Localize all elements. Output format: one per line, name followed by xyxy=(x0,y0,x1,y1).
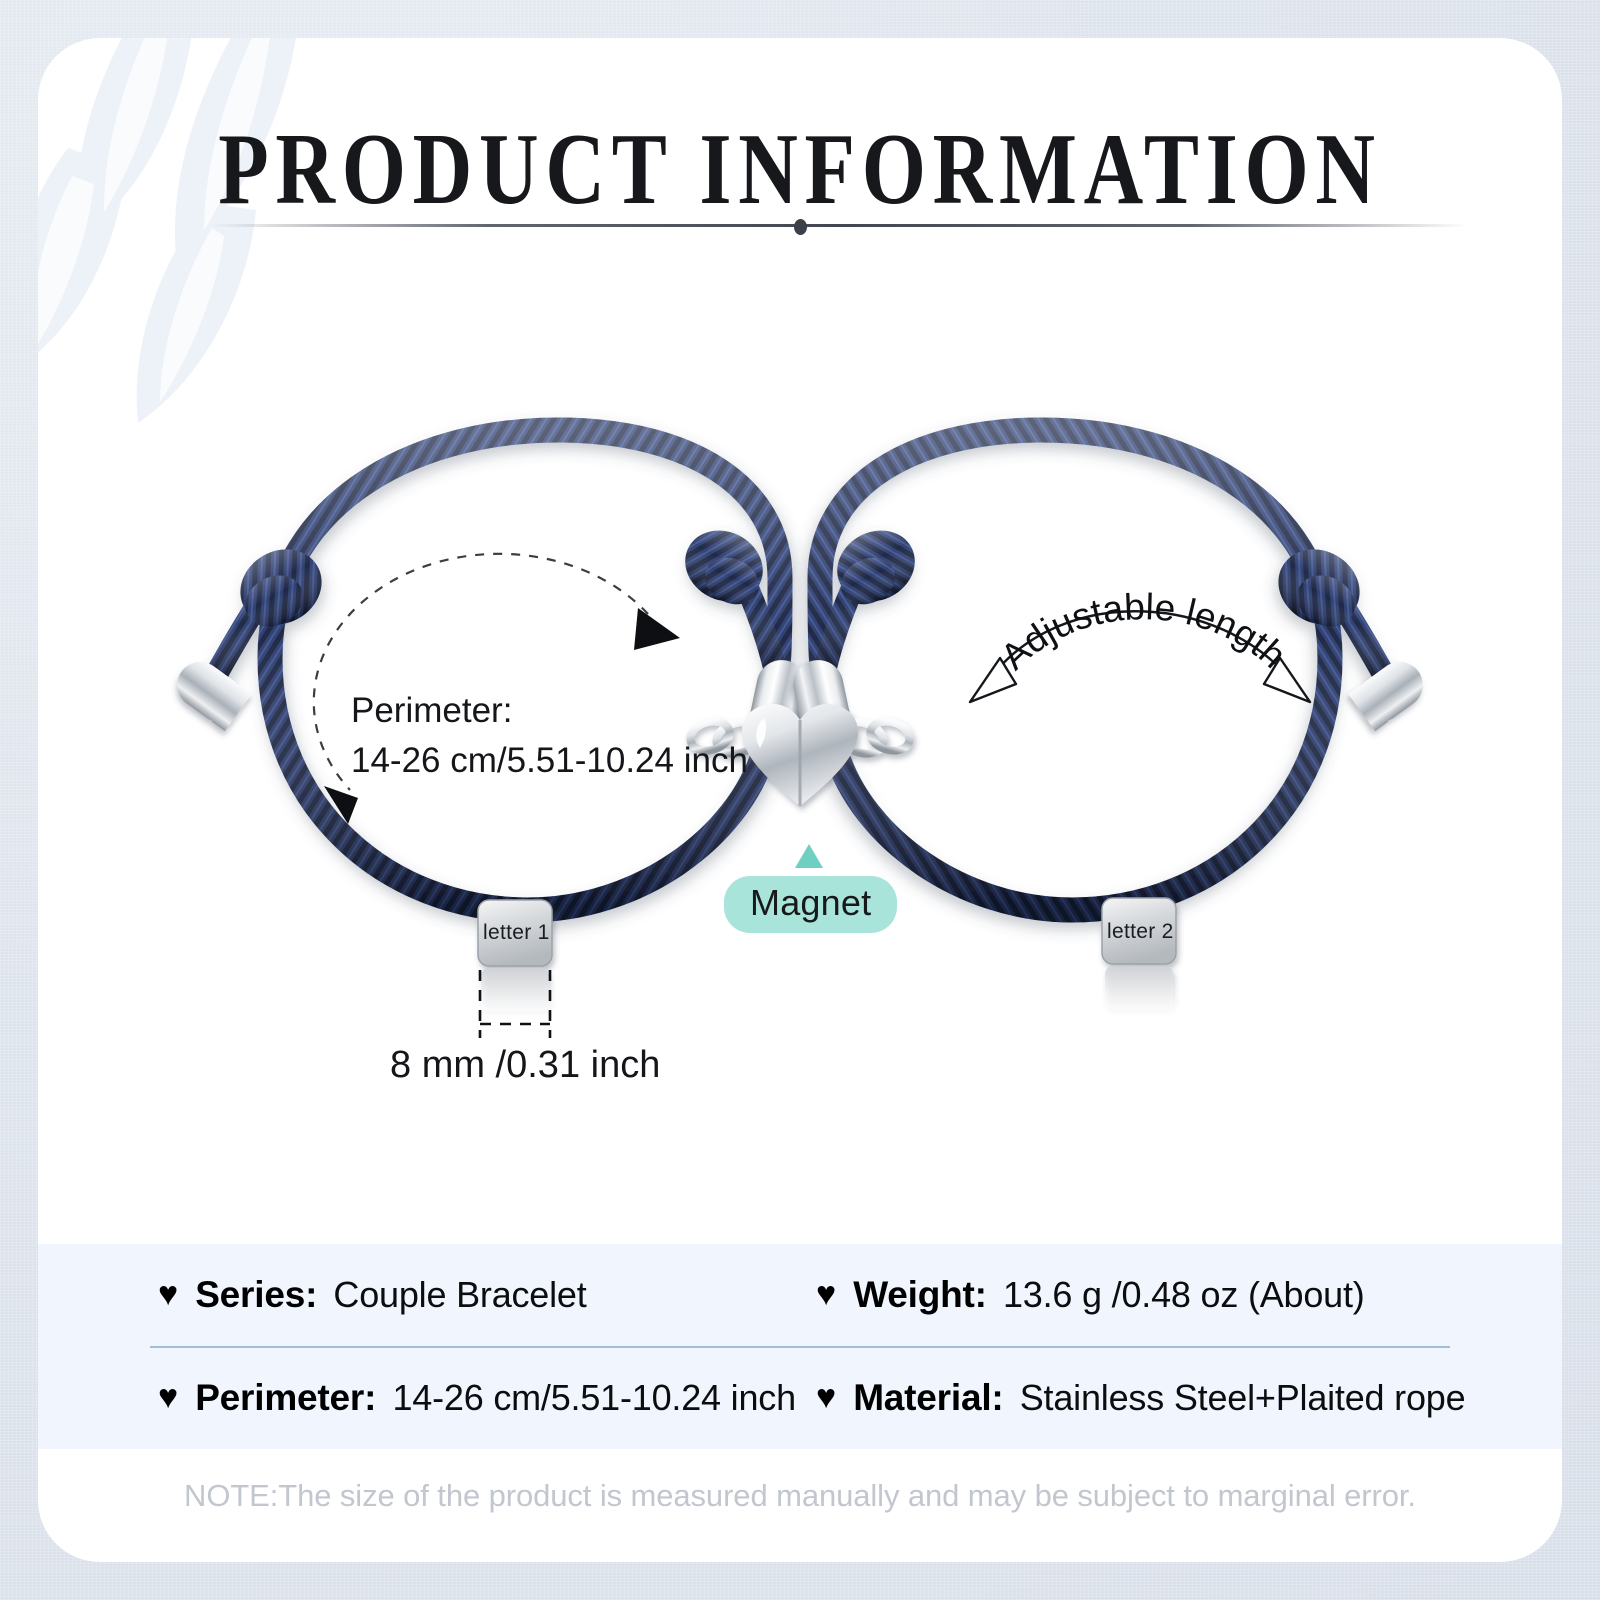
heart-bullet-icon: ♥ xyxy=(158,1380,178,1414)
bead-dimension-label: 8 mm /0.31 inch xyxy=(390,1044,660,1087)
bracelet-left xyxy=(210,430,780,910)
spec-value: 14-26 cm/5.51-10.24 inch xyxy=(392,1377,795,1419)
spec-item-weight: ♥ Weight : 13.6 g /0.48 oz (About) xyxy=(816,1274,1365,1316)
bead-right-engraving: letter 2 xyxy=(1107,920,1174,944)
heart-bullet-icon: ♥ xyxy=(816,1380,836,1414)
spec-label: Weight xyxy=(853,1274,974,1316)
page-root: PRODUCT INFORMATION xyxy=(0,0,1600,1600)
spec-value: Stainless Steel+Plaited rope xyxy=(1020,1377,1466,1419)
letter-bead-left xyxy=(478,900,552,1012)
letter-bead-right xyxy=(1102,898,1176,1010)
spec-colon: : xyxy=(991,1377,1003,1419)
spec-row: ♥ Perimeter : 14-26 cm/5.51-10.24 inch ♥… xyxy=(38,1347,1562,1449)
spec-colon: : xyxy=(305,1274,317,1316)
spec-item-material: ♥ Material : Stainless Steel+Plaited rop… xyxy=(816,1377,1465,1419)
bead-left-engraving: letter 1 xyxy=(483,921,550,945)
spec-item-perimeter: ♥ Perimeter : 14-26 cm/5.51-10.24 inch xyxy=(158,1377,796,1419)
magnet-callout: Magnet xyxy=(724,844,894,933)
spec-table: ♥ Series : Couple Bracelet ♥ Weight : 13… xyxy=(38,1244,1562,1449)
heart-bullet-icon: ♥ xyxy=(158,1277,178,1311)
spec-item-series: ♥ Series : Couple Bracelet xyxy=(158,1274,587,1316)
perimeter-arrow-end xyxy=(634,608,680,650)
spec-label: Material xyxy=(853,1377,991,1419)
note-text: NOTE:The size of the product is measured… xyxy=(38,1478,1562,1514)
end-cap-right xyxy=(1348,653,1432,731)
spec-row: ♥ Series : Couple Bracelet ♥ Weight : 13… xyxy=(38,1244,1562,1346)
perimeter-annotation: Perimeter: 14-26 cm/5.51-10.24 inch xyxy=(351,686,748,785)
spec-value: Couple Bracelet xyxy=(333,1274,586,1316)
spec-colon: : xyxy=(975,1274,987,1316)
heart-bullet-icon: ♥ xyxy=(816,1277,836,1311)
perimeter-annotation-line1: Perimeter: xyxy=(351,686,748,736)
magnet-arrow-icon xyxy=(795,844,823,868)
bracelet-right xyxy=(820,430,1390,910)
adjustable-length-label: Adjustable length xyxy=(993,586,1294,677)
spec-label: Series xyxy=(195,1274,305,1316)
spec-value: 13.6 g /0.48 oz (About) xyxy=(1003,1274,1365,1316)
spec-colon: : xyxy=(364,1377,376,1419)
product-info-card: PRODUCT INFORMATION xyxy=(38,38,1562,1562)
spec-label: Perimeter xyxy=(195,1377,364,1419)
magnet-label: Magnet xyxy=(724,876,897,933)
end-cap-left xyxy=(168,653,252,731)
perimeter-annotation-line2: 14-26 cm/5.51-10.24 inch xyxy=(351,736,748,786)
adjustable-length-arc: Adjustable length xyxy=(970,586,1310,702)
